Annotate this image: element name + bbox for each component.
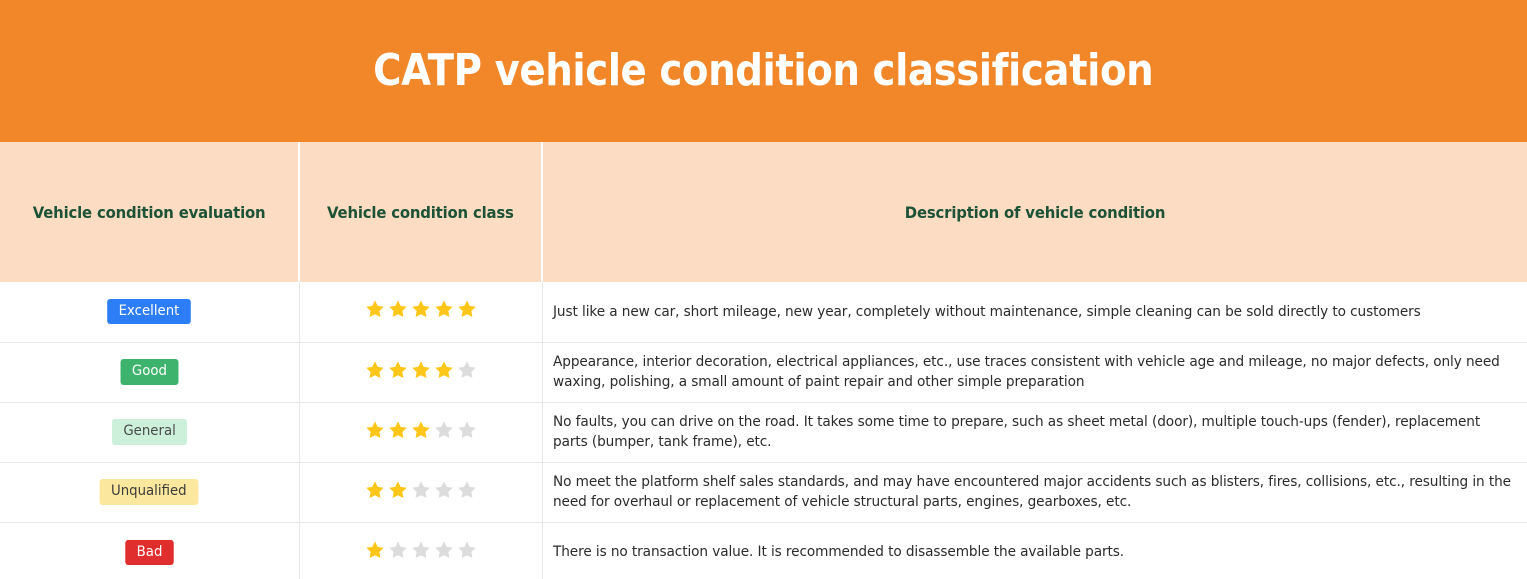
vehicle-condition-classification-page: CATP vehicle condition classification Ve… (0, 0, 1527, 579)
star-icon (387, 419, 409, 441)
star-rating (364, 298, 478, 320)
cell-condition-class (299, 402, 542, 462)
column-header-evaluation-label: Vehicle condition evaluation (33, 203, 266, 222)
condition-badge[interactable]: Unqualified (100, 479, 198, 504)
description-text: No meet the platform shelf sales standar… (553, 472, 1518, 513)
column-header-description: Description of vehicle condition (542, 142, 1527, 282)
star-icon (456, 419, 478, 441)
cell-evaluation: Unqualified (0, 462, 299, 522)
star-icon (364, 479, 386, 501)
star-rating (364, 479, 478, 501)
star-rating (364, 359, 478, 381)
column-header-description-label: Description of vehicle condition (905, 203, 1165, 222)
cell-condition-class (299, 522, 542, 579)
star-rating (364, 539, 478, 561)
star-icon (410, 298, 432, 320)
description-text: There is no transaction value. It is rec… (553, 542, 1518, 562)
table-body: ExcellentJust like a new car, short mile… (0, 282, 1527, 579)
cell-description: There is no transaction value. It is rec… (542, 522, 1527, 579)
cell-condition-class (299, 462, 542, 522)
star-icon (387, 298, 409, 320)
star-icon (433, 479, 455, 501)
table-header-row: Vehicle condition evaluation Vehicle con… (0, 142, 1527, 282)
column-header-class-label: Vehicle condition class (327, 203, 514, 222)
star-icon (387, 479, 409, 501)
star-icon (364, 359, 386, 381)
page-title: CATP vehicle condition classification (373, 47, 1153, 95)
table-row: GeneralNo faults, you can drive on the r… (0, 402, 1527, 462)
cell-evaluation: Good (0, 342, 299, 402)
table-row: BadThere is no transaction value. It is … (0, 522, 1527, 579)
description-text: Just like a new car, short mileage, new … (553, 302, 1518, 322)
star-icon (364, 539, 386, 561)
star-icon (387, 539, 409, 561)
cell-evaluation: Excellent (0, 282, 299, 342)
star-icon (456, 298, 478, 320)
star-icon (456, 539, 478, 561)
cell-condition-class (299, 282, 542, 342)
column-header-evaluation: Vehicle condition evaluation (0, 142, 299, 282)
description-text: No faults, you can drive on the road. It… (553, 412, 1518, 453)
star-icon (433, 539, 455, 561)
star-icon (364, 298, 386, 320)
table-row: ExcellentJust like a new car, short mile… (0, 282, 1527, 342)
cell-description: No faults, you can drive on the road. It… (542, 402, 1527, 462)
cell-description: No meet the platform shelf sales standar… (542, 462, 1527, 522)
star-icon (410, 479, 432, 501)
page-banner: CATP vehicle condition classification (0, 0, 1527, 142)
cell-evaluation: General (0, 402, 299, 462)
condition-badge[interactable]: Excellent (107, 299, 191, 324)
condition-badge[interactable]: Bad (125, 540, 174, 565)
cell-description: Just like a new car, short mileage, new … (542, 282, 1527, 342)
cell-condition-class (299, 342, 542, 402)
column-header-class: Vehicle condition class (299, 142, 542, 282)
star-icon (433, 359, 455, 381)
condition-badge[interactable]: General (112, 419, 187, 444)
star-icon (410, 359, 432, 381)
star-rating (364, 419, 478, 441)
star-icon (456, 359, 478, 381)
vehicle-condition-table: Vehicle condition evaluation Vehicle con… (0, 142, 1527, 579)
star-icon (410, 539, 432, 561)
star-icon (433, 298, 455, 320)
star-icon (387, 359, 409, 381)
star-icon (364, 419, 386, 441)
description-text: Appearance, interior decoration, electri… (553, 352, 1518, 393)
table-row: UnqualifiedNo meet the platform shelf sa… (0, 462, 1527, 522)
star-icon (456, 479, 478, 501)
condition-badge[interactable]: Good (120, 359, 178, 384)
table-header: Vehicle condition evaluation Vehicle con… (0, 142, 1527, 282)
cell-description: Appearance, interior decoration, electri… (542, 342, 1527, 402)
star-icon (433, 419, 455, 441)
cell-evaluation: Bad (0, 522, 299, 579)
table-row: GoodAppearance, interior decoration, ele… (0, 342, 1527, 402)
star-icon (410, 419, 432, 441)
